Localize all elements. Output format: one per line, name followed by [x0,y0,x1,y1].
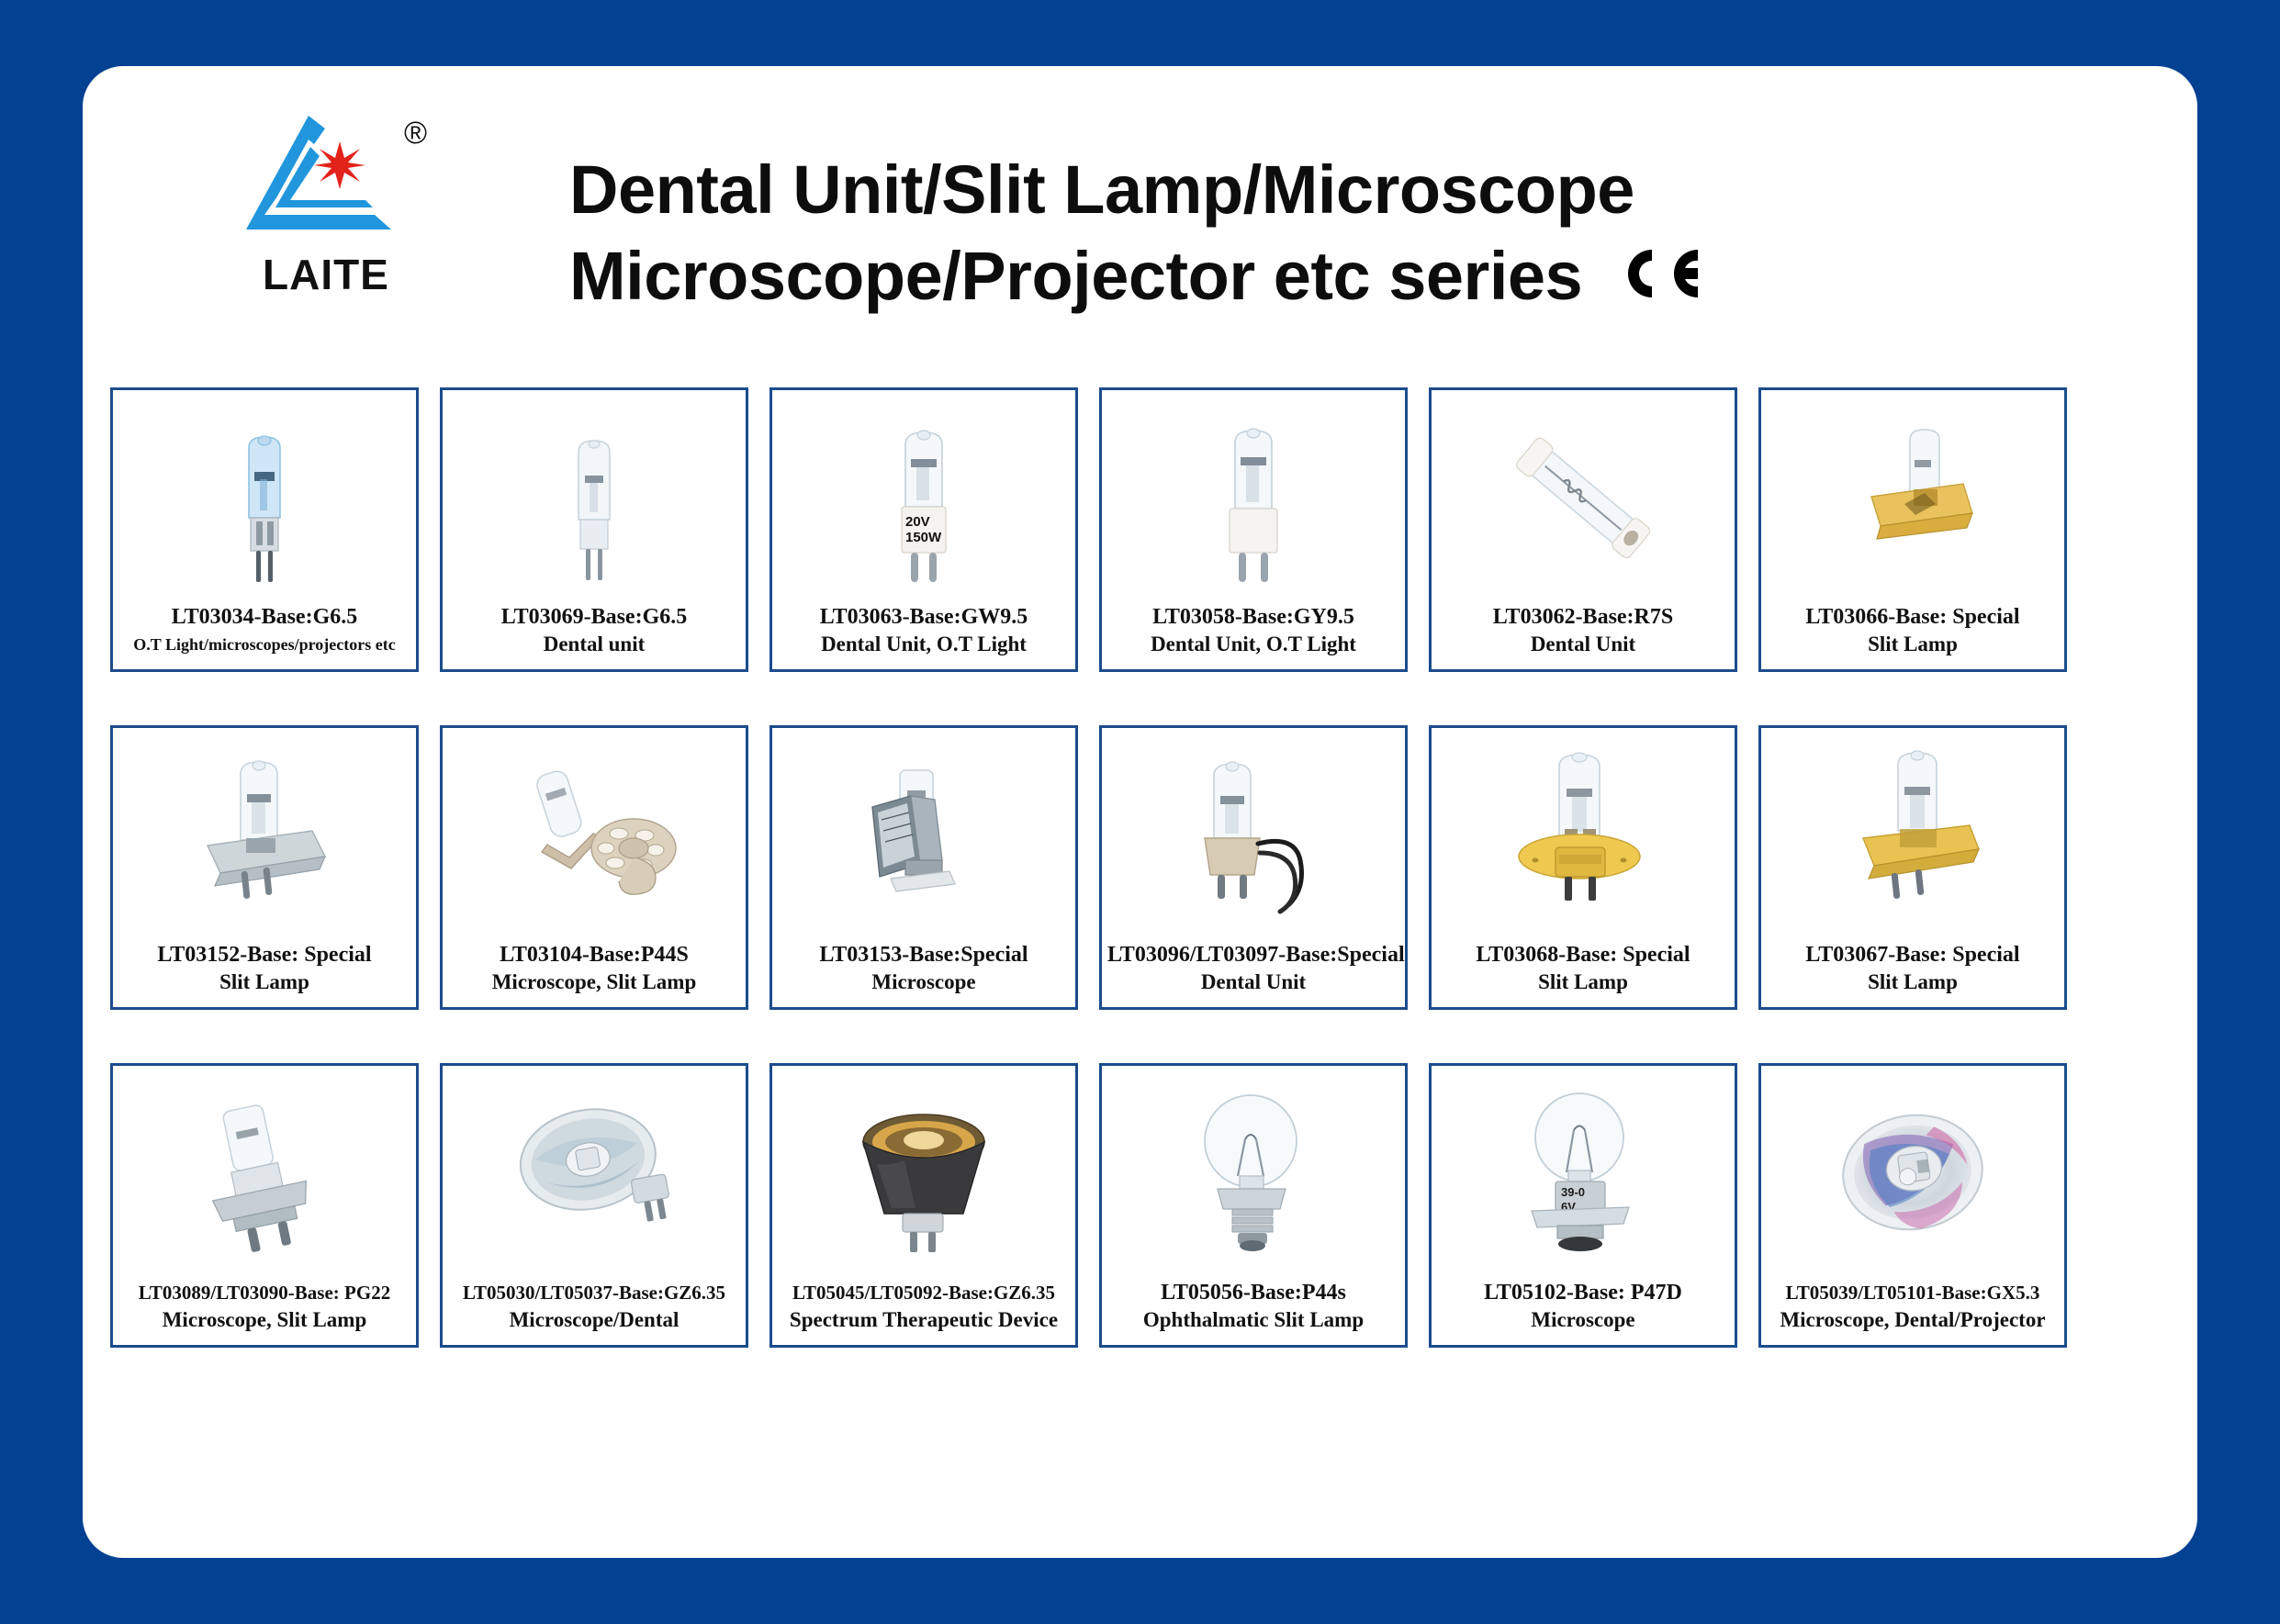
product-caption: LT03034-Base:G6.5 O.T Light/microscopes/… [113,603,416,669]
product-cell[interactable]: LT03068-Base: Special Slit Lamp [1429,725,1737,1010]
product-image: 20V 150W [772,390,1075,603]
product-code: LT03096/LT03097-Base:Special [1107,941,1399,969]
dichroic-reflector-silver-gz635-icon [498,1085,691,1260]
ce-mark-icon [1613,244,1702,303]
product-cell[interactable]: LT03152-Base: Special Slit Lamp [110,725,419,1010]
product-cell[interactable]: LT03153-Base:Special Microscope [769,725,1078,1010]
brand-name: LAITE [220,250,432,299]
product-code: LT03089/LT03090-Base: PG22 [118,1279,410,1306]
product-code: LT03152-Base: Special [118,941,410,969]
product-code: LT05039/LT05101-Base:GX5.3 [1767,1279,2059,1306]
product-code: LT05056-Base:P44s [1107,1279,1399,1306]
product-caption: LT03063-Base:GW9.5 Dental Unit, O.T Ligh… [772,603,1075,669]
product-application: Ophthalmatic Slit Lamp [1107,1306,1399,1334]
product-caption: LT03089/LT03090-Base: PG22 Microscope, S… [113,1279,416,1345]
slit-lamp-bulb-metal-plate-icon [173,743,356,926]
product-cell[interactable]: LT05045/LT05092-Base:GZ6.35 Spectrum The… [769,1063,1078,1348]
product-code: LT03034-Base:G6.5 [118,603,410,631]
product-image [1432,390,1735,603]
product-cell[interactable]: 20V 150W LT03063-Base:GW9.5 Dental Unit,… [769,387,1078,672]
product-application: Slit Lamp [1767,631,2059,658]
product-code: LT05030/LT05037-Base:GZ6.35 [448,1279,740,1306]
product-row: LT03152-Base: Special Slit Lamp [110,725,2170,1010]
product-application: Dental Unit, O.T Light [1107,631,1399,658]
product-cell[interactable]: LT03066-Base: Special Slit Lamp [1758,387,2067,672]
product-code: LT03066-Base: Special [1767,603,2059,631]
product-caption: LT03062-Base:R7S Dental Unit [1432,603,1735,669]
product-cell[interactable]: LT03058-Base:GY9.5 Dental Unit, O.T Ligh… [1099,387,1408,672]
halogen-capsule-clear-g635-icon [525,400,663,593]
product-image [1102,390,1405,603]
product-application: Dental Unit [1107,969,1399,996]
product-cell[interactable]: LT03104-Base:P44S Microscope, Slit Lamp [440,725,748,1010]
laite-logo-icon [237,112,400,250]
microscope-bulb-perforated-disc-p44s-icon [498,745,691,924]
product-caption: LT05039/LT05101-Base:GX5.3 Microscope, D… [1761,1279,2064,1345]
product-application: Microscope, Slit Lamp [118,1306,410,1334]
round-bulb-p44s-screw-base-icon [1166,1081,1341,1264]
brand-logo: ® LAITE [220,112,432,309]
product-image [113,728,416,941]
product-cell[interactable]: LT03096/LT03097-Base:Special Dental Unit [1099,725,1408,1010]
product-application: Slit Lamp [1767,969,2059,996]
product-code: LT03069-Base:G6.5 [448,603,740,631]
dichroic-reflector-iridescent-gx53-icon [1819,1088,2007,1258]
product-caption: LT05056-Base:P44s Ophthalmatic Slit Lamp [1102,1279,1405,1345]
product-application: O.T Light/microscopes/projectors etc [118,631,410,658]
product-image [443,390,746,603]
title-line-2: Microscope/Projector etc series [569,238,1582,314]
product-code: LT05045/LT05092-Base:GZ6.35 [778,1279,1070,1306]
product-caption: LT03096/LT03097-Base:Special Dental Unit [1102,941,1405,1007]
product-image [443,1066,746,1279]
halogen-lamp-ceramic-base-gw95-icon: 20V 150W [850,398,997,596]
product-image [1761,1066,2064,1279]
product-application: Slit Lamp [1437,969,1729,996]
svg-text:20V: 20V [905,514,930,530]
product-application: Dental Unit [1437,631,1729,658]
product-code: LT03062-Base:R7S [1437,603,1729,631]
product-image [113,1066,416,1279]
product-caption: LT03067-Base: Special Slit Lamp [1761,941,2064,1007]
product-application: Dental unit [448,631,740,658]
product-application: Microscope/Dental [448,1306,740,1334]
product-code: LT03063-Base:GW9.5 [778,603,1070,631]
product-image [443,728,746,941]
product-caption: LT03104-Base:P44S Microscope, Slit Lamp [443,941,746,1007]
halogen-lamp-ceramic-base-gy95-icon [1180,398,1327,596]
product-image [1102,728,1405,941]
product-grid: LT03034-Base:G6.5 O.T Light/microscopes/… [110,387,2170,1348]
product-image [1761,390,2064,603]
product-code: LT03153-Base:Special [778,941,1070,969]
product-cell[interactable]: LT03067-Base: Special Slit Lamp [1758,725,2067,1010]
product-code: LT03068-Base: Special [1437,941,1729,969]
round-bulb-p47d-flange-base-icon: 39-0 6V [1500,1081,1666,1264]
product-application: Spectrum Therapeutic Device [778,1306,1070,1334]
product-caption: LT05030/LT05037-Base:GZ6.35 Microscope/D… [443,1279,746,1345]
product-cell[interactable]: LT05056-Base:P44s Ophthalmatic Slit Lamp [1099,1063,1408,1348]
product-application: Microscope [778,969,1070,996]
product-cell[interactable]: 39-0 6V LT05102-Base: P47D Microscope [1429,1063,1737,1348]
product-application: Slit Lamp [118,969,410,996]
product-application: Microscope, Dental/Projector [1767,1306,2059,1334]
product-image [772,1066,1075,1279]
microscope-bulb-pg22-base-icon [171,1083,359,1262]
gold-reflector-lamp-gz635-icon [827,1085,1020,1260]
product-cell[interactable]: LT03089/LT03090-Base: PG22 Microscope, S… [110,1063,419,1348]
halogen-capsule-blue-g635-icon [196,400,333,593]
product-code: LT05102-Base: P47D [1437,1279,1729,1306]
product-cell[interactable]: LT03034-Base:G6.5 O.T Light/microscopes/… [110,387,419,672]
product-image [1102,1066,1405,1279]
microscope-bulb-square-bracket-icon [832,743,1016,926]
product-caption: LT05102-Base: P47D Microscope [1432,1279,1735,1345]
product-cell[interactable]: LT03062-Base:R7S Dental Unit [1429,387,1737,672]
product-code: LT03058-Base:GY9.5 [1107,603,1399,631]
double-ended-linear-lamp-r7s-icon [1487,405,1679,588]
svg-text:150W: 150W [905,530,942,545]
product-caption: LT03066-Base: Special Slit Lamp [1761,603,2064,669]
product-application: Microscope [1437,1306,1729,1334]
svg-text:39-0: 39-0 [1561,1185,1585,1199]
catalog-page: ® LAITE Dental Unit/Slit Lamp/Microscope… [83,66,2197,1558]
product-caption: LT03153-Base:Special Microscope [772,941,1075,1007]
product-row: LT03089/LT03090-Base: PG22 Microscope, S… [110,1063,2170,1348]
product-caption: LT03069-Base:G6.5 Dental unit [443,603,746,669]
product-image [772,728,1075,941]
product-cell[interactable]: LT05039/LT05101-Base:GX5.3 Microscope, D… [1758,1063,2067,1348]
slit-lamp-bulb-gold-disc-flange-icon [1491,741,1675,929]
product-code: LT03104-Base:P44S [448,941,740,969]
slit-lamp-bulb-gold-angled-plate-icon [1821,743,2005,926]
catalog-header: ® LAITE Dental Unit/Slit Lamp/Microscope… [83,66,2197,369]
product-caption: LT03068-Base: Special Slit Lamp [1432,941,1735,1007]
product-image: 39-0 6V [1432,1066,1735,1279]
title-line-1: Dental Unit/Slit Lamp/Microscope [569,147,2075,233]
product-image [113,390,416,603]
product-application: Microscope, Slit Lamp [448,969,740,996]
product-caption: LT05045/LT05092-Base:GZ6.35 Spectrum The… [772,1279,1075,1345]
product-cell[interactable]: LT05030/LT05037-Base:GZ6.35 Microscope/D… [440,1063,748,1348]
title-line-2-wrap: Microscope/Projector etc series [569,233,2075,319]
product-caption: LT03152-Base: Special Slit Lamp [113,941,416,1007]
page-title: Dental Unit/Slit Lamp/Microscope Microsc… [569,147,2075,319]
product-image [1432,728,1735,941]
product-application: Dental Unit, O.T Light [778,631,1070,658]
slit-lamp-bulb-gold-bracket-icon [1825,405,2000,588]
product-image [1761,728,2064,941]
dental-bulb-with-wire-leads-icon [1157,743,1350,926]
product-cell[interactable]: LT03069-Base:G6.5 Dental unit [440,387,748,672]
product-code: LT03067-Base: Special [1767,941,2059,969]
registered-trademark-symbol: ® [404,118,427,149]
product-caption: LT03058-Base:GY9.5 Dental Unit, O.T Ligh… [1102,603,1405,669]
product-row: LT03034-Base:G6.5 O.T Light/microscopes/… [110,387,2170,672]
